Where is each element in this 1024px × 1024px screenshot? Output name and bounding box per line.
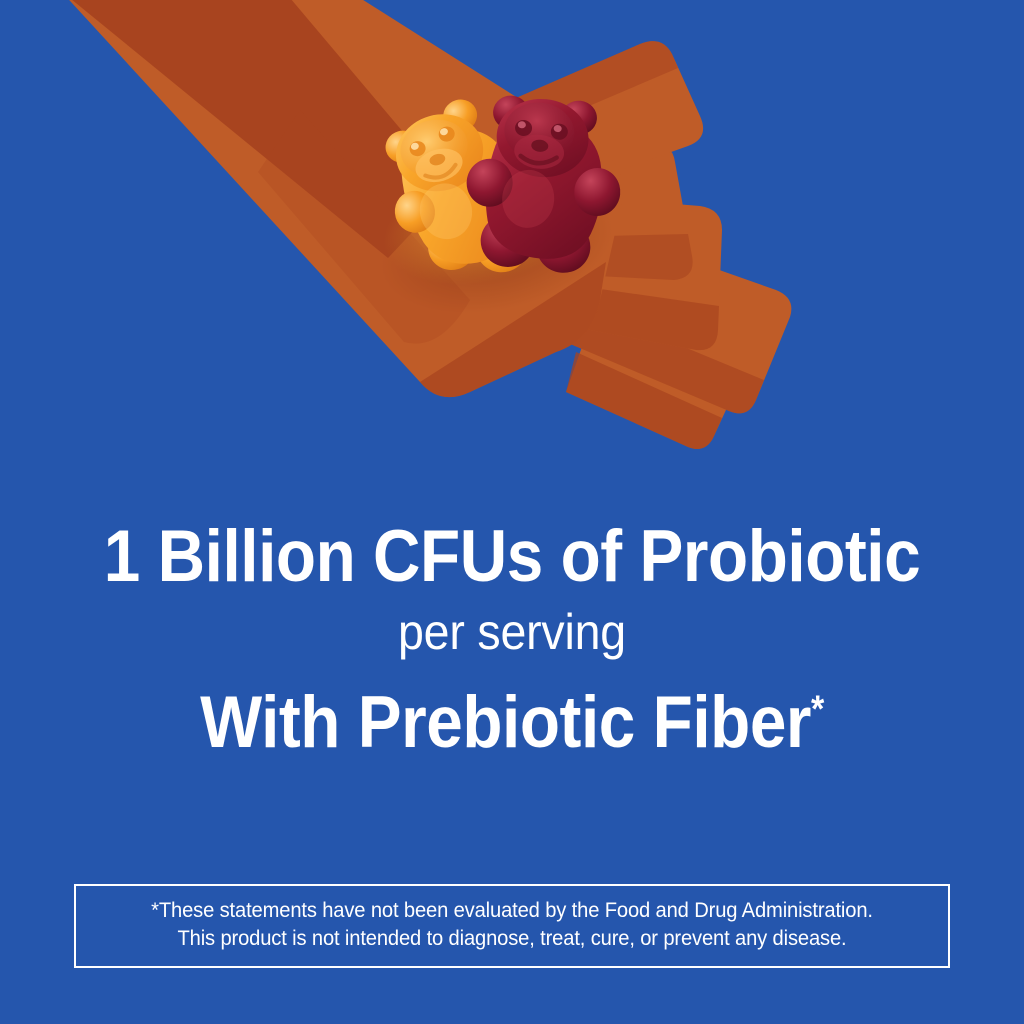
hero-illustration [0, 0, 1024, 500]
product-marketing-graphic: 1 Billion CFUs of Probiotic per serving … [0, 0, 1024, 1024]
secondary-headline-text: With Prebiotic Fiber [200, 682, 811, 763]
fda-disclaimer-box: *These statements have not been evaluate… [74, 884, 950, 968]
disclaimer-line-1: *These statements have not been evaluate… [107, 897, 917, 925]
headline-subline: per serving [36, 604, 988, 660]
secondary-headline: With Prebiotic Fiber* [51, 686, 973, 760]
page-headline: 1 Billion CFUs of Probiotic [51, 520, 973, 594]
disclaimer-line-2: This product is not intended to diagnose… [107, 925, 917, 953]
marketing-copy-block: 1 Billion CFUs of Probiotic per serving … [0, 520, 1024, 761]
footnote-marker: * [811, 689, 824, 731]
